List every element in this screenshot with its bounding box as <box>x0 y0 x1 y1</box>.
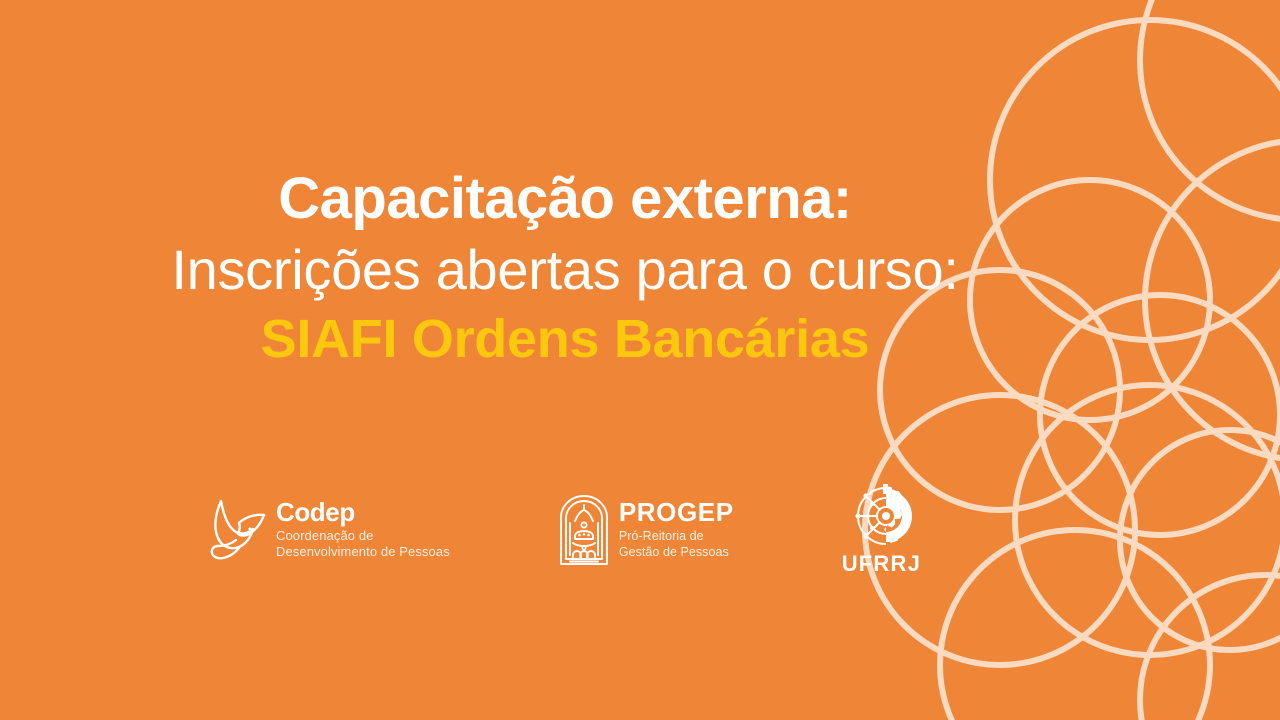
logo-ufrrj: UFRRJ <box>842 484 921 575</box>
poster-canvas: Capacitação externa: Inscrições abertas … <box>0 0 1280 720</box>
logo-codep-text: Codep Coordenação de Desenvolvimento de … <box>276 499 450 560</box>
headline-course-title: SIAFI Ordens Bancárias <box>0 310 1130 369</box>
logo-ufrrj-text: UFRRJ <box>842 553 921 575</box>
headline-block: Capacitação externa: Inscrições abertas … <box>0 168 1130 370</box>
logo-codep: Codep Coordenação de Desenvolvimento de … <box>209 497 450 563</box>
logo-strip: Codep Coordenação de Desenvolvimento de … <box>0 484 1130 575</box>
logo-progep-subtitle-line1: Pró-Reitoria de <box>619 529 734 544</box>
logo-codep-subtitle-line2: Desenvolvimento de Pessoas <box>276 544 450 560</box>
headline-line-1: Capacitação externa: <box>0 168 1130 231</box>
arch-emblem-icon <box>558 493 610 567</box>
dove-icon <box>209 497 267 563</box>
logo-progep-subtitle-line2: Gestão de Pessoas <box>619 545 734 560</box>
headline-line-2: Inscrições abertas para o curso: <box>0 239 1130 301</box>
logo-ufrrj-name: UFRRJ <box>842 553 921 575</box>
logo-progep-text: PROGEP Pró-Reitoria de Gestão de Pessoas <box>619 499 734 560</box>
logo-progep: PROGEP Pró-Reitoria de Gestão de Pessoas <box>558 493 734 567</box>
logo-codep-name: Codep <box>276 499 450 525</box>
logo-progep-name: PROGEP <box>619 499 734 525</box>
logo-codep-subtitle-line1: Coordenação de <box>276 528 450 544</box>
gear-orbit-icon <box>845 484 917 548</box>
